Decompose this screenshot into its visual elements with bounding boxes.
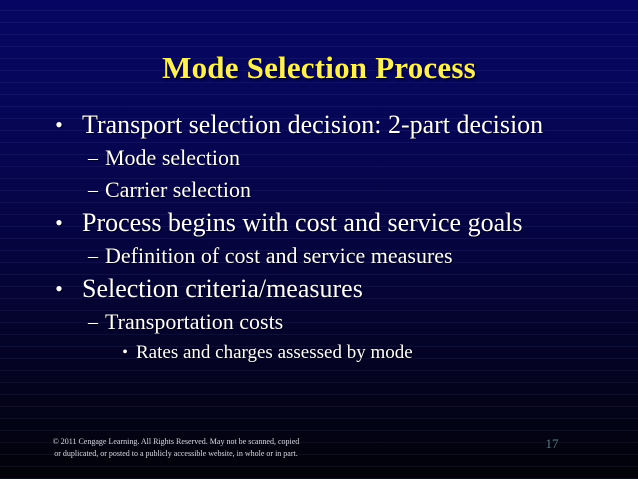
slide-number: 17 (540, 436, 564, 452)
bullet-item-level2: – Transportation costs (0, 306, 638, 338)
bullet-item-level2: – Carrier selection (0, 174, 638, 206)
bullet-item-level2: – Mode selection (0, 142, 638, 174)
bullet-marker-dash-icon: – (86, 240, 100, 272)
bullet-item-level3: • Rates and charges assessed by mode (0, 338, 638, 367)
presentation-slide: Mode Selection Process • Transport selec… (0, 0, 638, 479)
bullet-text: Transport selection decision: 2-part dec… (82, 108, 578, 142)
bullet-marker-dash-icon: – (86, 174, 100, 206)
bullet-marker-dot-icon: • (52, 272, 66, 306)
bullet-item-level2: – Definition of cost and service measure… (0, 240, 638, 272)
copyright-line-1: © 2011 Cengage Learning. All Rights Rese… (26, 436, 326, 448)
bullet-text: Selection criteria/measures (82, 272, 578, 306)
footer-copyright-notice: © 2011 Cengage Learning. All Rights Rese… (26, 436, 326, 460)
bullet-text: Carrier selection (105, 174, 598, 206)
bullet-text: Rates and charges assessed by mode (136, 338, 608, 367)
bullet-marker-dash-icon: – (86, 142, 100, 174)
bullet-text: Definition of cost and service measures (105, 240, 598, 272)
bullet-text: Process begins with cost and service goa… (82, 206, 578, 240)
slide-body-bullet-list: • Transport selection decision: 2-part d… (0, 108, 638, 367)
copyright-line-2: or duplicated, or posted to a publicly a… (26, 448, 326, 460)
bullet-text: Transportation costs (105, 306, 598, 338)
bullet-item-level1: • Process begins with cost and service g… (0, 206, 638, 240)
bullet-item-level1: • Selection criteria/measures (0, 272, 638, 306)
bullet-marker-dot-icon: • (119, 338, 131, 367)
bullet-marker-dot-icon: • (52, 108, 66, 142)
bullet-marker-dash-icon: – (86, 306, 100, 338)
slide-title: Mode Selection Process (0, 50, 638, 86)
bullet-marker-dot-icon: • (52, 206, 66, 240)
bullet-item-level1: • Transport selection decision: 2-part d… (0, 108, 638, 142)
bullet-text: Mode selection (105, 142, 598, 174)
